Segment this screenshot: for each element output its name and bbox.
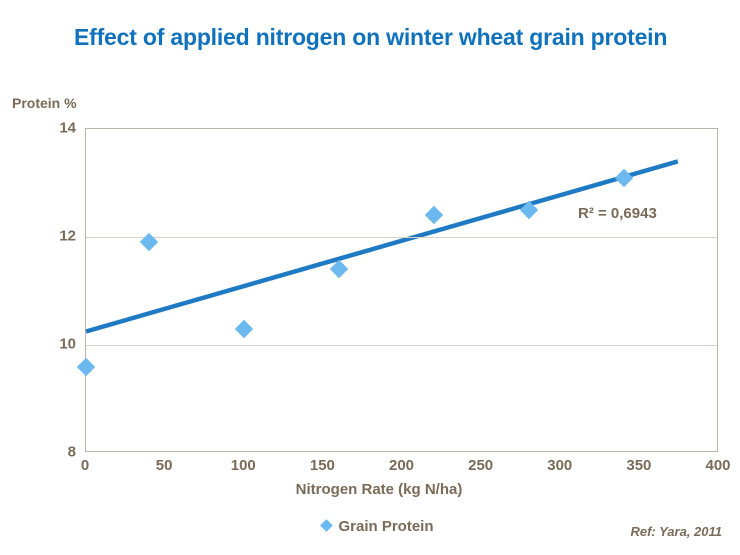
chart-container: Effect of applied nitrogen on winter whe…: [0, 0, 740, 555]
x-tick-label-200: 200: [389, 457, 414, 474]
y-tick-label-12: 12: [16, 228, 76, 245]
y-tick-label-14: 14: [16, 120, 76, 137]
x-tick-label-400: 400: [705, 457, 730, 474]
x-tick-label-350: 350: [626, 457, 651, 474]
x-axis-tick-labels: 050100150200250300350400: [85, 452, 718, 480]
chart-legend: Grain Protein: [0, 518, 740, 535]
y-axis-tick-labels: 8101214: [10, 128, 76, 452]
x-tick-label-150: 150: [310, 457, 335, 474]
x-axis-title: Nitrogen Rate (kg N/ha): [0, 481, 740, 498]
y-axis-title: Protein %: [12, 95, 77, 111]
x-tick-label-300: 300: [547, 457, 572, 474]
chart-title: Effect of applied nitrogen on winter whe…: [74, 22, 674, 52]
legend-item-grain-protein: Grain Protein: [322, 518, 433, 535]
plot-area: [85, 128, 718, 452]
gridline-y-10: [86, 345, 717, 346]
legend-label: Grain Protein: [338, 518, 433, 535]
y-tick-label-8: 8: [16, 444, 76, 461]
y-tick-label-10: 10: [16, 336, 76, 353]
x-tick-label-100: 100: [231, 457, 256, 474]
diamond-marker-icon: [321, 519, 334, 532]
source-note: Ref: Yara, 2011: [630, 524, 722, 539]
x-tick-label-50: 50: [156, 457, 173, 474]
x-tick-label-0: 0: [81, 457, 89, 474]
x-axis-title-text: Nitrogen Rate (kg N/ha): [296, 481, 463, 498]
r-squared-annotation: R² = 0,6943: [578, 205, 657, 222]
x-tick-label-250: 250: [468, 457, 493, 474]
gridline-y-12: [86, 237, 717, 238]
